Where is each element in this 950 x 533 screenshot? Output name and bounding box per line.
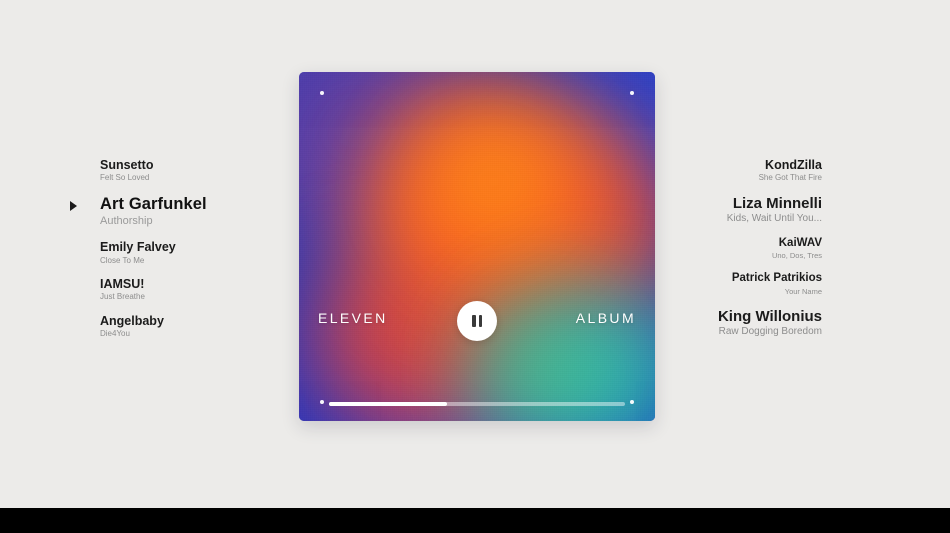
list-item[interactable]: KondZilla She Got That Fire — [660, 158, 822, 183]
track-subtitle: Uno, Dos, Tres — [660, 251, 822, 260]
playlist-left: Sunsetto Felt So Loved Art Garfunkel Aut… — [100, 158, 290, 351]
play-indicator-icon — [70, 201, 77, 211]
track-subtitle: Just Breathe — [100, 292, 290, 302]
track-subtitle: Your Name — [660, 287, 822, 296]
list-item[interactable]: KaiWAV Uno, Dos, Tres — [660, 237, 822, 260]
list-item[interactable]: Angelbaby Die4You — [100, 314, 290, 339]
list-item[interactable]: Liza Minnelli Kids, Wait Until You... — [660, 195, 822, 225]
track-subtitle: Close To Me — [100, 256, 290, 266]
track-title: King Willonius — [660, 308, 822, 325]
corner-dot-icon — [320, 400, 324, 404]
track-subtitle: Authorship — [100, 215, 290, 228]
player-stage: Sunsetto Felt So Loved Art Garfunkel Aut… — [0, 0, 950, 533]
track-title: Sunsetto — [100, 158, 290, 172]
playlist-right: KondZilla She Got That Fire Liza Minnell… — [660, 158, 822, 350]
grain-texture — [299, 72, 655, 421]
list-item[interactable]: Patrick Patrikios Your Name — [660, 272, 822, 295]
track-subtitle: Felt So Loved — [100, 173, 290, 183]
list-item[interactable]: IAMSU! Just Breathe — [100, 277, 290, 302]
track-subtitle: Kids, Wait Until You... — [660, 213, 822, 225]
track-subtitle: Die4You — [100, 329, 290, 339]
track-title: Angelbaby — [100, 314, 290, 328]
track-subtitle: She Got That Fire — [660, 173, 822, 183]
track-title: Art Garfunkel — [100, 195, 290, 214]
track-title: Emily Falvey — [100, 240, 290, 254]
pause-button[interactable] — [457, 301, 497, 341]
progress-bar-fill — [329, 402, 447, 406]
list-item-active[interactable]: Art Garfunkel Authorship — [100, 195, 290, 228]
list-item[interactable]: Emily Falvey Close To Me — [100, 240, 290, 265]
pause-icon-bar-right — [479, 315, 483, 327]
corner-dot-icon — [320, 91, 324, 95]
track-title: Patrick Patrikios — [660, 272, 822, 285]
track-title: Liza Minnelli — [660, 195, 822, 212]
track-title: KondZilla — [660, 158, 822, 172]
pause-icon-bar-left — [472, 315, 476, 327]
list-item[interactable]: King Willonius Raw Dogging Boredom — [660, 308, 822, 338]
album-label-left: ELEVEN — [318, 310, 388, 326]
progress-bar[interactable] — [329, 402, 625, 406]
list-item[interactable]: Sunsetto Felt So Loved — [100, 158, 290, 183]
letterbox-bar — [0, 508, 950, 533]
album-label-right: ALBUM — [576, 310, 636, 326]
track-title: KaiWAV — [660, 237, 822, 250]
track-subtitle: Raw Dogging Boredom — [660, 326, 822, 338]
album-art[interactable]: ELEVEN ALBUM — [299, 72, 655, 421]
corner-dot-icon — [630, 400, 634, 404]
corner-dot-icon — [630, 91, 634, 95]
track-title: IAMSU! — [100, 277, 290, 291]
